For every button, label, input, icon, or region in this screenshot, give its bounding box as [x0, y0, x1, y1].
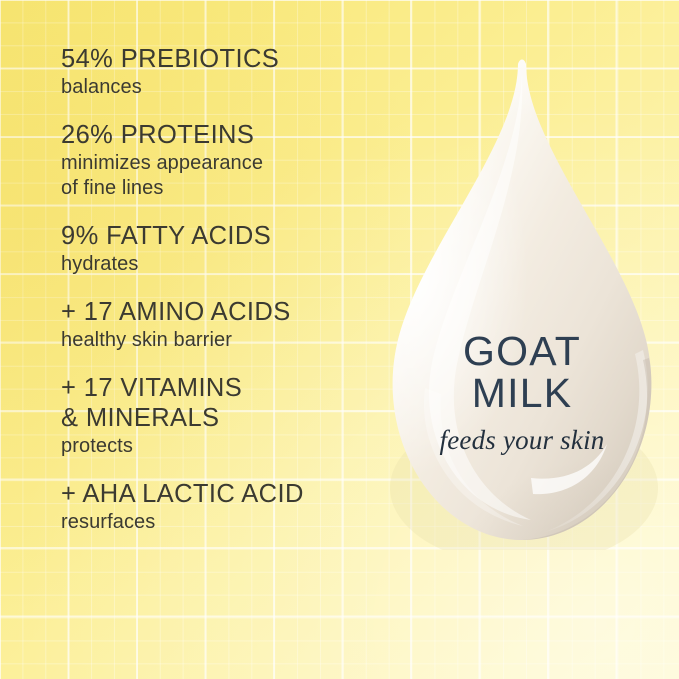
- ingredient-item-fatty-acids: 9% FATTY ACIDS hydrates: [61, 221, 391, 277]
- ingredient-benefit: protects: [61, 434, 391, 459]
- ingredient-benefit: balances: [61, 75, 391, 100]
- ingredient-title: + 17 VITAMINS & MINERALS: [61, 373, 391, 433]
- ingredient-item-prebiotics: 54% PREBIOTICS balances: [61, 44, 391, 100]
- product-infographic: 54% PREBIOTICS balances 26% PROTEINS min…: [0, 0, 679, 679]
- milk-droplet-icon: [381, 58, 663, 550]
- ingredient-title: + 17 AMINO ACIDS: [61, 297, 391, 327]
- ingredient-item-proteins: 26% PROTEINS minimizes appearance of fin…: [61, 120, 391, 201]
- ingredient-item-vitamins-minerals: + 17 VITAMINS & MINERALS protects: [61, 373, 391, 459]
- ingredient-title: 54% PREBIOTICS: [61, 44, 391, 74]
- ingredient-item-aha-lactic-acid: + AHA LACTIC ACID resurfaces: [61, 479, 391, 535]
- ingredient-benefit: hydrates: [61, 252, 391, 277]
- ingredient-title: + AHA LACTIC ACID: [61, 479, 391, 509]
- ingredient-list: 54% PREBIOTICS balances 26% PROTEINS min…: [61, 44, 391, 535]
- ingredient-item-amino-acids: + 17 AMINO ACIDS healthy skin barrier: [61, 297, 391, 353]
- ingredient-benefit: healthy skin barrier: [61, 328, 391, 353]
- ingredient-title: 9% FATTY ACIDS: [61, 221, 391, 251]
- ingredient-benefit: resurfaces: [61, 510, 391, 535]
- ingredient-benefit: minimizes appearance of fine lines: [61, 151, 391, 201]
- ingredient-title: 26% PROTEINS: [61, 120, 391, 150]
